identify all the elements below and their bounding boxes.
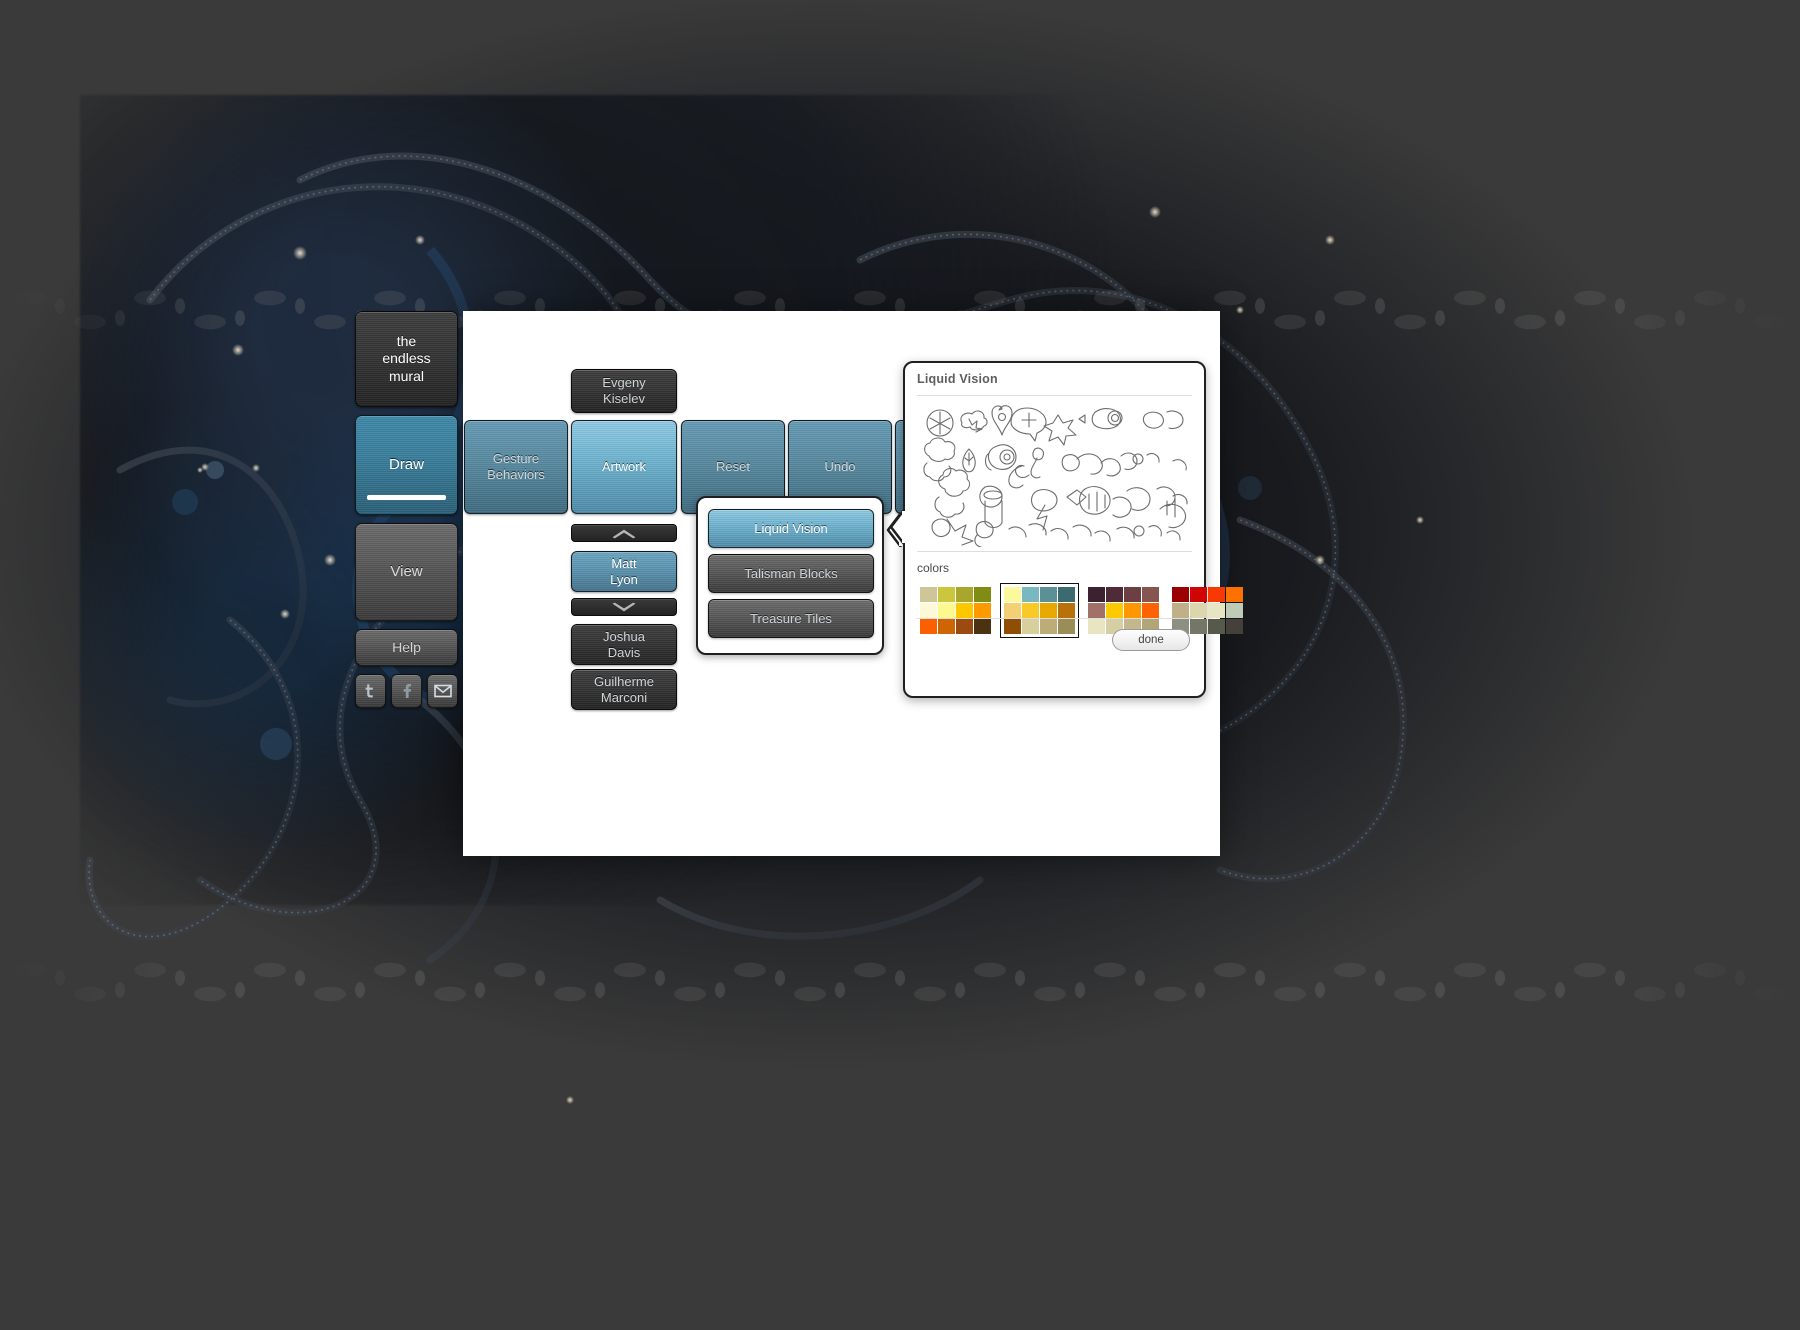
active-indicator-bar xyxy=(367,495,446,500)
color-swatch[interactable] xyxy=(920,587,937,602)
color-swatch[interactable] xyxy=(1172,603,1189,618)
colors-section-label: colors xyxy=(917,561,949,575)
dialog-callout-arrow xyxy=(889,510,905,544)
menu-item-undo-label: Undo xyxy=(820,459,859,475)
palette-earthy-green[interactable] xyxy=(916,583,995,638)
color-swatch[interactable] xyxy=(1124,587,1141,602)
color-swatch[interactable] xyxy=(938,587,955,602)
color-swatch[interactable] xyxy=(1004,587,1021,602)
artist-item-matt-lyon[interactable]: Matt Lyon xyxy=(571,551,677,592)
twitter-icon xyxy=(364,683,378,699)
menu-item-gesture-behaviors[interactable]: Gesture Behaviors xyxy=(464,420,568,514)
app-title-line-1: the xyxy=(382,333,430,350)
doodle-preview-svg xyxy=(917,401,1192,547)
app-title-line-3: mural xyxy=(382,368,430,385)
facebook-button[interactable] xyxy=(391,674,422,708)
artist-item-joshua-davis-label: Joshua Davis xyxy=(599,629,649,660)
artist-item-guilherme-marconi-label: Guilherme Marconi xyxy=(590,674,658,705)
color-swatch[interactable] xyxy=(956,587,973,602)
email-button[interactable] xyxy=(427,674,458,708)
menu-item-artwork-label: Artwork xyxy=(598,459,650,475)
color-swatch[interactable] xyxy=(1226,587,1243,602)
color-swatch[interactable] xyxy=(1124,603,1141,618)
app-title: the endless mural xyxy=(355,311,458,407)
submenu-item-talisman-blocks-label: Talisman Blocks xyxy=(744,566,837,581)
chevron-up-icon xyxy=(611,528,637,539)
color-swatch[interactable] xyxy=(920,603,937,618)
facebook-icon xyxy=(401,683,413,699)
divider-bottom xyxy=(917,618,1192,619)
dialog-title: Liquid Vision xyxy=(917,372,998,386)
social-links-row xyxy=(355,674,458,708)
artwork-preview xyxy=(917,401,1192,547)
color-swatch[interactable] xyxy=(1172,587,1189,602)
color-swatch[interactable] xyxy=(1088,587,1105,602)
sidebar-item-view-label: View xyxy=(390,563,422,581)
color-swatch[interactable] xyxy=(1142,603,1159,618)
color-swatch[interactable] xyxy=(1058,603,1075,618)
color-swatch[interactable] xyxy=(1040,619,1057,634)
artist-item-matt-lyon-label: Matt Lyon xyxy=(606,556,642,587)
app-sidebar: the endless mural Draw View Help xyxy=(355,311,458,711)
color-swatch[interactable] xyxy=(1058,619,1075,634)
color-swatch[interactable] xyxy=(956,619,973,634)
artist-item-evgeny-kiselev[interactable]: Evgeny Kiselev xyxy=(571,369,677,413)
color-swatch[interactable] xyxy=(1022,603,1039,618)
submenu-item-treasure-tiles-label: Treasure Tiles xyxy=(750,611,832,626)
color-swatch[interactable] xyxy=(1022,619,1039,634)
color-swatch[interactable] xyxy=(1208,619,1225,634)
color-swatch[interactable] xyxy=(938,619,955,634)
color-swatch[interactable] xyxy=(1208,603,1225,618)
app-title-line-2: endless xyxy=(382,350,430,367)
color-swatch[interactable] xyxy=(1058,587,1075,602)
color-swatch[interactable] xyxy=(1190,587,1207,602)
color-swatch[interactable] xyxy=(1106,587,1123,602)
color-swatch[interactable] xyxy=(1004,603,1021,618)
done-button[interactable]: done xyxy=(1112,629,1190,651)
submenu-item-liquid-vision-label: Liquid Vision xyxy=(754,521,827,536)
sidebar-item-draw[interactable]: Draw xyxy=(355,415,458,515)
menu-item-artwork[interactable]: Artwork xyxy=(571,420,677,514)
palette-gold-teal[interactable] xyxy=(1000,583,1079,638)
submenu-item-talisman-blocks[interactable]: Talisman Blocks xyxy=(708,554,874,593)
artist-item-evgeny-kiselev-label: Evgeny Kiselev xyxy=(598,375,649,406)
submenu-item-liquid-vision[interactable]: Liquid Vision xyxy=(708,509,874,548)
color-swatch[interactable] xyxy=(1190,619,1207,634)
submenu-item-treasure-tiles[interactable]: Treasure Tiles xyxy=(708,599,874,638)
color-swatch[interactable] xyxy=(1106,603,1123,618)
chevron-down-icon xyxy=(611,602,637,613)
artwork-submenu-panel: Liquid Vision Talisman Blocks Treasure T… xyxy=(696,496,884,655)
sidebar-item-help[interactable]: Help xyxy=(355,629,458,666)
sidebar-item-view[interactable]: View xyxy=(355,523,458,621)
envelope-icon xyxy=(434,684,452,698)
color-swatch[interactable] xyxy=(974,603,991,618)
color-swatch[interactable] xyxy=(1142,587,1159,602)
divider-middle xyxy=(917,551,1192,552)
color-swatch[interactable] xyxy=(974,619,991,634)
artist-scroll-down-button[interactable] xyxy=(571,598,677,616)
artist-scroll-up-button[interactable] xyxy=(571,524,677,542)
color-swatch[interactable] xyxy=(938,603,955,618)
color-palette-group xyxy=(916,583,1247,638)
ornamental-vine-border-bottom xyxy=(0,940,1800,1024)
liquid-vision-dialog: Liquid Vision xyxy=(903,361,1206,698)
twitter-button[interactable] xyxy=(355,674,386,708)
color-swatch[interactable] xyxy=(1226,603,1243,618)
artist-item-guilherme-marconi[interactable]: Guilherme Marconi xyxy=(571,669,677,710)
color-swatch[interactable] xyxy=(956,603,973,618)
color-swatch[interactable] xyxy=(974,587,991,602)
artist-item-joshua-davis[interactable]: Joshua Davis xyxy=(571,624,677,665)
color-swatch[interactable] xyxy=(1190,603,1207,618)
color-swatch[interactable] xyxy=(1040,603,1057,618)
sidebar-item-help-label: Help xyxy=(392,639,421,656)
color-swatch[interactable] xyxy=(920,619,937,634)
sidebar-item-draw-label: Draw xyxy=(389,456,424,474)
color-swatch[interactable] xyxy=(1088,619,1105,634)
color-swatch[interactable] xyxy=(1040,587,1057,602)
color-swatch[interactable] xyxy=(1022,587,1039,602)
color-swatch[interactable] xyxy=(1088,603,1105,618)
color-swatch[interactable] xyxy=(1004,619,1021,634)
color-swatch[interactable] xyxy=(1226,619,1243,634)
divider-top xyxy=(917,395,1192,396)
menu-item-reset-label: Reset xyxy=(712,459,754,475)
color-swatch[interactable] xyxy=(1208,587,1225,602)
menu-item-gesture-behaviors-label: Gesture Behaviors xyxy=(483,451,549,482)
